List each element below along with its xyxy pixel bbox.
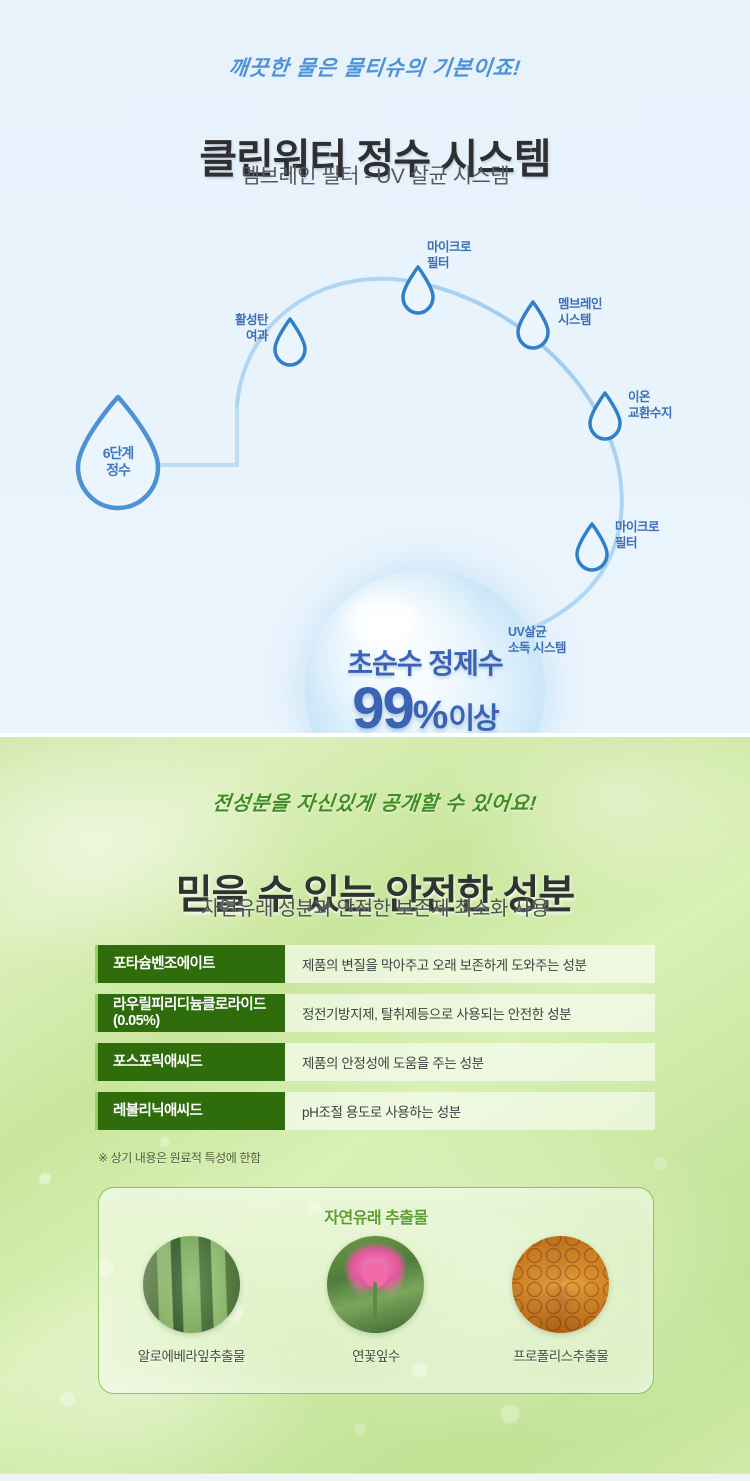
extract-panel-title: 자연유래 추출물 <box>99 1204 653 1228</box>
lotus-flower-photo <box>327 1236 424 1333</box>
node-label-micro-filter-2: 마이크로 필터 <box>615 520 659 551</box>
table-row: 포타슘벤조에이트 제품의 변질을 막아주고 오래 보존하게 도와주는 성분 <box>95 945 655 983</box>
node-label-membrane-system: 멤브레인 시스템 <box>558 297 602 328</box>
table-row: 라우릴피리디늄클로라이드 (0.05%) 정전기방지제, 탈취제등으로 사용되는… <box>95 994 655 1032</box>
ingredient-description: 제품의 안정성에 도움을 주는 성분 <box>285 1043 655 1081</box>
table-row: 레불리닉애씨드 pH조절 용도로 사용하는 성분 <box>95 1092 655 1130</box>
list-item: 프로폴리스추출물 <box>473 1236 648 1365</box>
list-item: 알로에베라잎추출물 <box>104 1236 279 1365</box>
ingredient-description: 제품의 변질을 막아주고 오래 보존하게 도와주는 성분 <box>285 945 655 983</box>
extract-caption: 프로폴리스추출물 <box>473 1345 648 1365</box>
list-item: 연꽃잎수 <box>288 1236 463 1365</box>
ingredient-section-subtitle: 자연유래 성분과 안전한 보존제 최소화 사용 <box>0 892 750 921</box>
ingredient-script-headline: 전성분을 자신있게 공개할 수 있어요! <box>0 787 750 816</box>
ingredient-description: 정전기방지제, 탈취제등으로 사용되는 안전한 성분 <box>285 994 655 1032</box>
purity-percent-sign: % <box>413 695 447 733</box>
purification-flow-diagram: 초순수 정제수 99 % 이상 6단계 정수 활성탄 여과 마이크로 필터 멤브… <box>0 215 750 715</box>
honeycomb-photo <box>512 1236 609 1333</box>
node-label-uv-sterilization: UV살균 소독 시스템 <box>508 625 566 656</box>
node-label-micro-filter-1: 마이크로 필터 <box>427 240 471 271</box>
ingredient-name: 포타슘벤조에이트 <box>95 945 285 983</box>
ingredient-table: 포타슘벤조에이트 제품의 변질을 막아주고 오래 보존하게 도와주는 성분 라우… <box>95 945 655 1141</box>
node-label-activated-carbon: 활성탄 여과 <box>170 313 268 344</box>
ingredient-name: 라우릴피리디늄클로라이드 (0.05%) <box>95 994 285 1032</box>
ingredient-name: 포스포릭애씨드 <box>95 1043 285 1081</box>
aloe-leaf-photo <box>143 1236 240 1333</box>
extract-caption: 연꽃잎수 <box>288 1345 463 1365</box>
safe-ingredient-section: 전성분을 자신있게 공개할 수 있어요! 믿을 수 있는 안전한 성분 자연유래… <box>0 737 750 1473</box>
ingredient-name: 레불리닉애씨드 <box>95 1092 285 1130</box>
purity-suffix: 이상 <box>448 705 497 733</box>
ingredient-footnote: ※ 상기 내용은 원료적 특성에 한함 <box>98 1149 261 1166</box>
purity-number: 99 <box>352 680 413 733</box>
entry-node-label: 6단계 정수 <box>78 445 158 479</box>
ingredient-description: pH조절 용도로 사용하는 성분 <box>285 1092 655 1130</box>
water-section-subtitle: 멤브레인 필터 - UV 살균 시스템 <box>0 160 750 190</box>
natural-extract-panel: 자연유래 추출물 알로에베라잎추출물 연꽃잎수 프로폴리스추출물 <box>98 1187 654 1394</box>
table-row: 포스포릭애씨드 제품의 안정성에 도움을 주는 성분 <box>95 1043 655 1081</box>
extract-caption: 알로에베라잎추출물 <box>104 1345 279 1365</box>
water-script-headline: 깨끗한 물은 물티슈의 기본이죠! <box>0 52 750 82</box>
purity-value: 99 % 이상 <box>352 680 497 733</box>
product-detail-page: 깨끗한 물은 물티슈의 기본이죠! 클린워터 정수 시스템 멤브레인 필터 - … <box>0 0 750 1480</box>
node-label-ion-exchange-resin: 이온 교환수지 <box>628 390 672 421</box>
clean-water-section: 깨끗한 물은 물티슈의 기본이죠! 클린워터 정수 시스템 멤브레인 필터 - … <box>0 0 750 733</box>
